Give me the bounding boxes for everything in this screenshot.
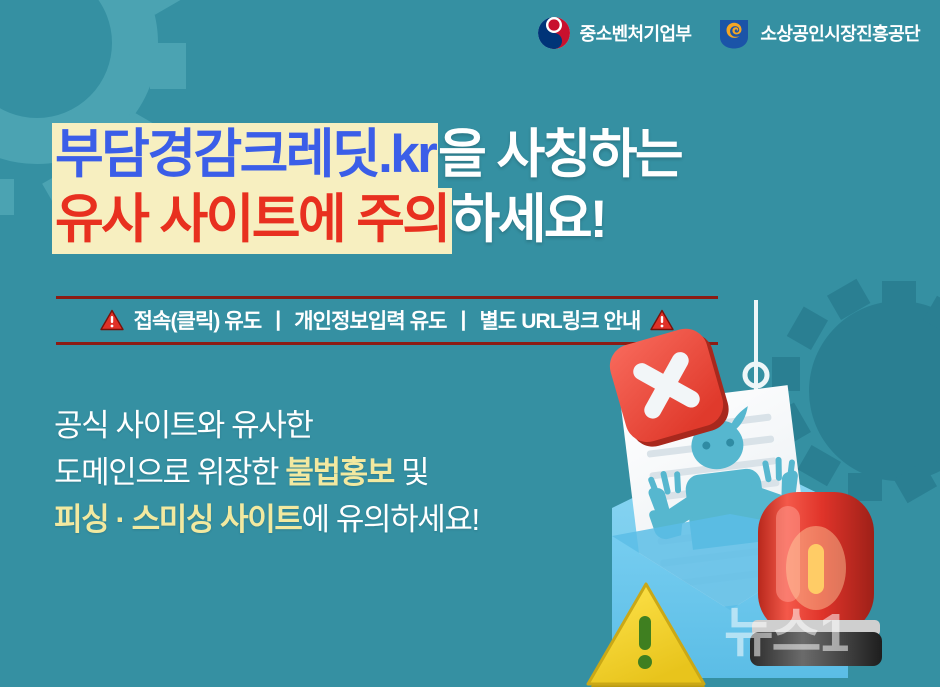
gear-tooth <box>827 279 870 320</box>
gear-tooth <box>787 307 828 350</box>
header-logo-bar: 중소벤처기업부 소상공인시장진흥공단 <box>537 16 920 50</box>
gear-tooth <box>848 473 882 501</box>
envelope-inner-fold <box>612 514 848 610</box>
red-siren-light-icon <box>750 492 882 666</box>
gear-tooth <box>772 357 800 391</box>
headline-warning-highlight: 유사 사이트에 주의 <box>52 188 452 254</box>
korea-government-taegeuk-icon <box>537 16 571 50</box>
gear-tooth <box>894 462 937 503</box>
gear-ring <box>809 301 940 481</box>
gear-decoration-right <box>784 276 940 506</box>
warning-strip: 접속(클릭) 유도 | 개인정보입력 유도 | 별도 URL링크 안내 <box>56 296 718 345</box>
warning-separator: | <box>457 308 470 332</box>
logo-label: 중소벤처기업부 <box>580 20 692 46</box>
news1-watermark: 뉴스1 <box>724 595 924 673</box>
document-text-lines <box>644 413 791 588</box>
body-emphasis-illegal-promo: 불법홍보 <box>285 455 393 490</box>
envelope-front-panel <box>612 536 848 678</box>
gear-tooth <box>150 43 186 89</box>
headline-domain-highlight: 부담경감크레딧.kr <box>52 123 438 189</box>
fishing-line-hook-icon <box>724 300 778 471</box>
open-envelope-icon <box>612 450 848 678</box>
gear-tooth <box>798 445 841 486</box>
gear-tooth <box>936 432 940 475</box>
headline-line-2-tail: 하세요! <box>452 190 606 249</box>
warning-item-2: 개인정보입력 유도 <box>294 305 446 335</box>
devil-hand-left <box>644 469 688 541</box>
semas-shield-spiral-icon <box>717 16 751 50</box>
yellow-caution-triangle-icon <box>588 584 708 687</box>
gear-tooth <box>132 0 186 15</box>
warning-separator: | <box>271 308 284 332</box>
headline-line-2: 유사 사이트에 주의하세요! <box>52 187 902 252</box>
body-copy: 공식 사이트와 유사한 도메인으로 위장한 불법홍보 및 피싱 · 스미싱 사이… <box>54 402 614 543</box>
gear-tooth <box>882 281 916 309</box>
body-line-2-post: 및 <box>394 455 428 490</box>
logo-semas: 소상공인시장진흥공단 <box>717 16 920 50</box>
body-line-3-post: 에 유의하세요! <box>302 502 479 537</box>
headline-line-1: 부담경감크레딧.kr을 사칭하는 <box>52 122 902 187</box>
headline-line-1-tail: 을 사칭하는 <box>438 125 681 184</box>
warning-triangle-icon <box>650 309 674 331</box>
headline: 부담경감크레딧.kr을 사칭하는 유사 사이트에 주의하세요! <box>52 122 902 252</box>
warning-item-1: 접속(클릭) 유도 <box>134 305 262 335</box>
gear-tooth <box>770 403 811 446</box>
body-line-2-pre: 도메인으로 위장한 <box>54 455 285 490</box>
devil-hand-right <box>762 454 806 526</box>
gear-tooth <box>0 179 14 215</box>
phishing-document-icon <box>621 385 815 616</box>
logo-ministry-sme-startups: 중소벤처기업부 <box>537 16 692 50</box>
gear-tooth <box>923 296 940 337</box>
warning-item-3: 별도 URL링크 안내 <box>480 305 641 335</box>
devil-silhouette-icon <box>637 401 807 555</box>
body-line-3: 피싱 · 스미싱 사이트에 유의하세요! <box>54 496 614 543</box>
body-line-1: 공식 사이트와 유사한 <box>54 402 614 449</box>
phishing-illustration <box>560 300 940 687</box>
warning-triangle-icon <box>100 309 124 331</box>
body-line-2: 도메인으로 위장한 불법홍보 및 <box>54 449 614 496</box>
watermark-text: 뉴스1 <box>724 588 847 667</box>
logo-label: 소상공인시장진흥공단 <box>760 20 920 46</box>
body-emphasis-phishing-smishing: 피싱 · 스미싱 사이트 <box>54 502 302 537</box>
phishing-warning-poster: 중소벤처기업부 소상공인시장진흥공단 부담경감크레딧.kr을 사칭하는 유사 사… <box>0 0 940 687</box>
